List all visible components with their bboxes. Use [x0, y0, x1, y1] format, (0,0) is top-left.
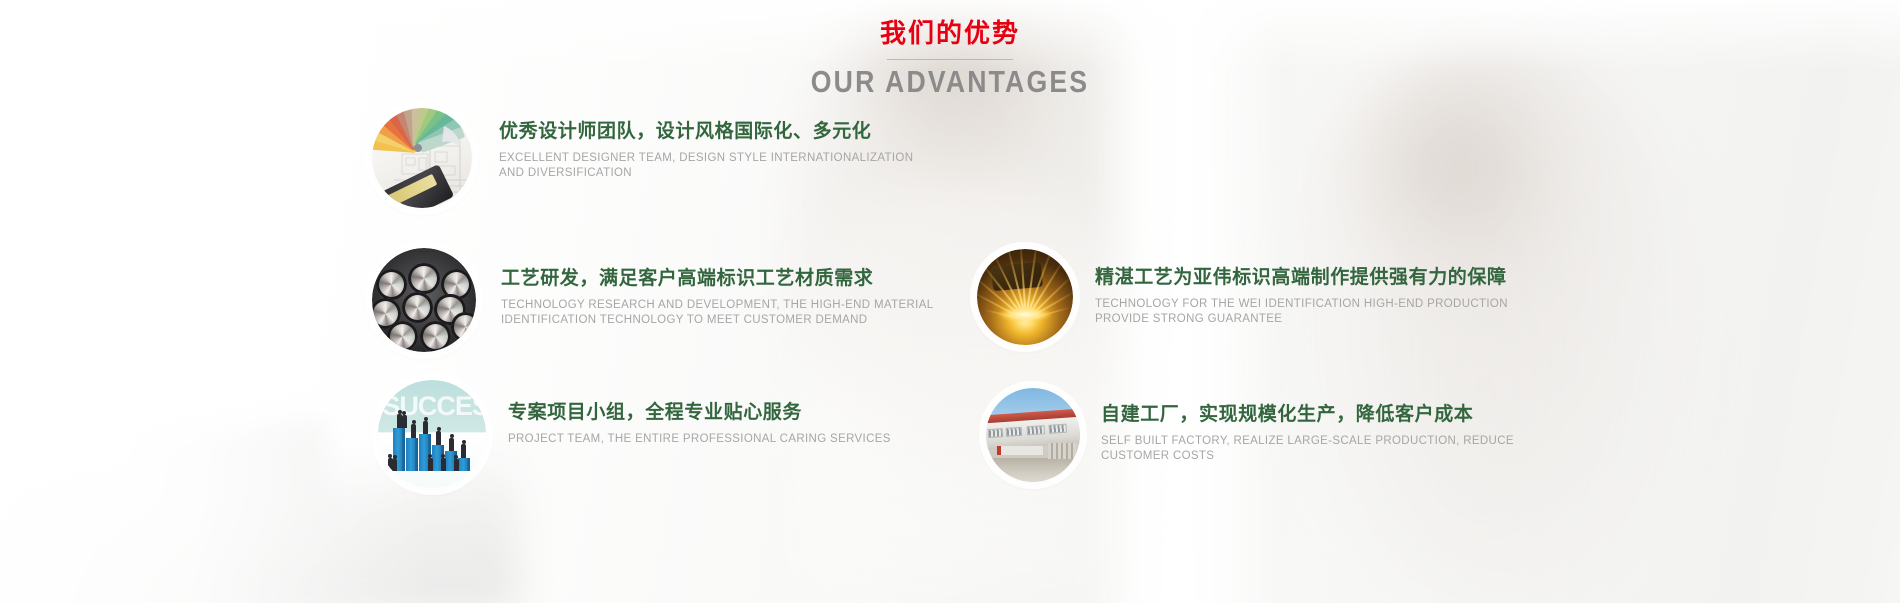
advantage-title-cn: 工艺研发，满足客户高端标识工艺材质需求 [501, 265, 933, 291]
advantage-item-project-team[interactable]: SUCCESS [378, 380, 891, 488]
section-header: 我们的优势 OUR ADVANTAGES [0, 18, 1900, 100]
page-subtitle: OUR ADVANTAGES [133, 64, 1767, 100]
advantage-copy: 专案项目小组，全程专业贴心服务 PROJECT TEAM, THE ENTIRE… [508, 380, 891, 447]
advantage-copy: 优秀设计师团队，设计风格国际化、多元化 EXCELLENT DESIGNER T… [499, 108, 913, 181]
advantage-title-cn: 精湛工艺为亚伟标识高端制作提供强有力的保障 [1095, 264, 1508, 290]
advantage-copy: 自建工厂，实现规模化生产，降低客户成本 SELF BUILT FACTORY, … [1101, 388, 1514, 464]
advantage-title-cn: 优秀设计师团队，设计风格国际化、多元化 [499, 118, 913, 144]
advantage-title-en: TECHNOLOGY RESEARCH AND DEVELOPMENT, THE… [501, 298, 933, 328]
advantage-title-en: SELF BUILT FACTORY, REALIZE LARGE-SCALE … [1101, 434, 1514, 464]
advantages-section: 我们的优势 OUR ADVANTAGES [0, 0, 1900, 603]
welding-sparks-icon [977, 249, 1073, 345]
color-swatch-blueprint-icon [372, 108, 472, 208]
advantage-title-en: EXCELLENT DESIGNER TEAM, DESIGN STYLE IN… [499, 151, 913, 181]
advantage-title-cn: 专案项目小组，全程专业贴心服务 [508, 399, 891, 425]
advantage-item-craftsmanship[interactable]: 精湛工艺为亚伟标识高端制作提供强有力的保障 TECHNOLOGY FOR THE… [977, 249, 1508, 345]
advantage-item-designer-team[interactable]: 优秀设计师团队，设计风格国际化、多元化 EXCELLENT DESIGNER T… [372, 108, 913, 208]
factory-ground [986, 458, 1080, 482]
advantage-title-en: TECHNOLOGY FOR THE WEI IDENTIFICATION HI… [1095, 297, 1508, 327]
metal-pipes-icon [372, 248, 476, 352]
advantage-item-technology-rd[interactable]: 工艺研发，满足客户高端标识工艺材质需求 TECHNOLOGY RESEARCH … [372, 248, 933, 352]
advantage-copy: 精湛工艺为亚伟标识高端制作提供强有力的保障 TECHNOLOGY FOR THE… [1095, 249, 1508, 327]
advantage-item-self-built-factory[interactable]: 自建工厂，实现规模化生产，降低客户成本 SELF BUILT FACTORY, … [986, 388, 1514, 482]
page-title: 我们的优势 [0, 18, 1900, 50]
title-divider [887, 59, 1013, 60]
advantage-copy: 工艺研发，满足客户高端标识工艺材质需求 TECHNOLOGY RESEARCH … [501, 248, 933, 328]
factory-fence [1048, 443, 1076, 460]
success-bar-chart-icon: SUCCESS [378, 380, 486, 488]
advantage-title-en: PROJECT TEAM, THE ENTIRE PROFESSIONAL CA… [508, 432, 891, 447]
factory-signboard [997, 446, 1042, 454]
advantage-title-cn: 自建工厂，实现规模化生产，降低客户成本 [1101, 401, 1514, 427]
factory-building-icon [986, 388, 1080, 482]
spark-core-glow [999, 307, 1051, 322]
